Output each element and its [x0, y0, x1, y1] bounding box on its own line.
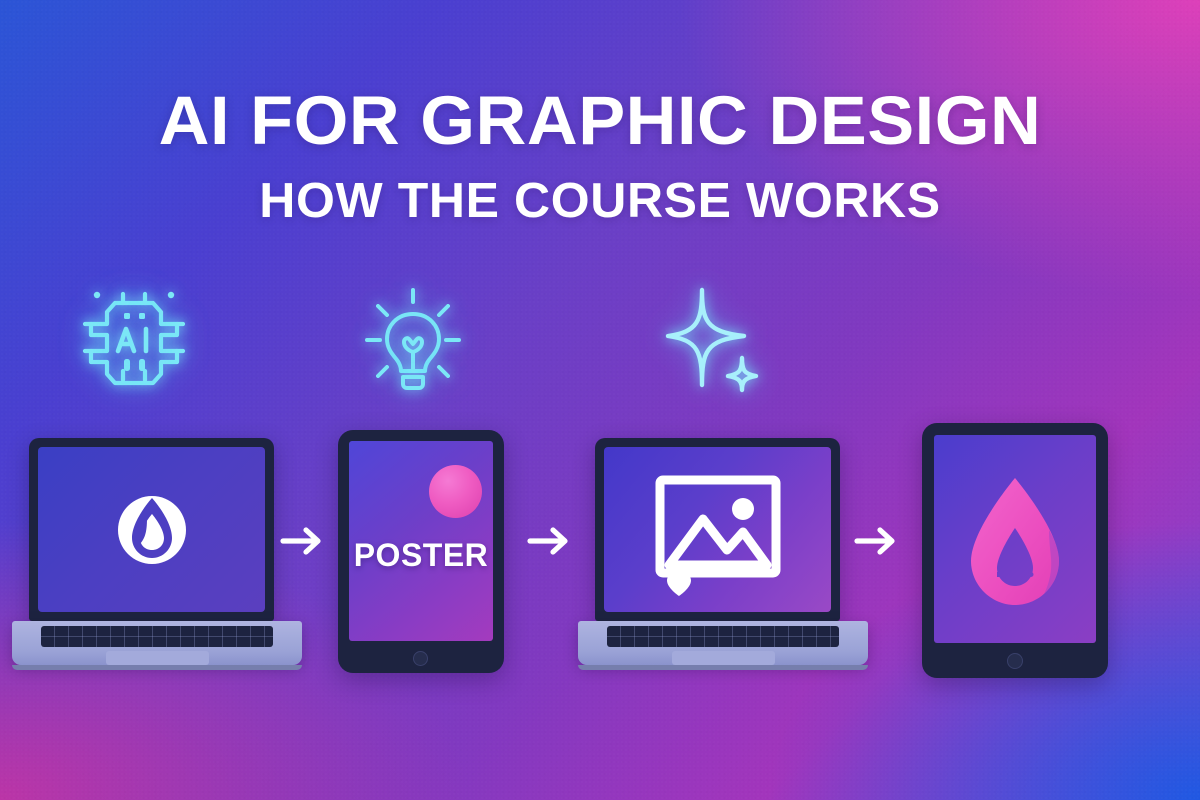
page-subtitle: HOW THE COURSE WORKS [0, 177, 1200, 226]
laptop-trackpad [672, 651, 775, 665]
image-placeholder-icon [604, 447, 831, 612]
step-4-tablet [922, 423, 1108, 678]
laptop-screen [38, 447, 265, 612]
flame-logo-pink [934, 435, 1096, 643]
ai-chip-icon [82, 281, 186, 393]
laptop-screen [604, 447, 831, 612]
sparkle-icon [664, 286, 768, 392]
tablet-home-button[interactable] [413, 651, 428, 666]
lightbulb-icon [363, 288, 463, 394]
poster-accent-circle [429, 465, 482, 518]
poster-canvas: AI FOR GRAPHIC DESIGN HOW THE COURSE WOR… [0, 0, 1200, 800]
step-1-laptop [12, 438, 302, 670]
step-3-laptop [578, 438, 868, 670]
heart-icon [666, 573, 692, 602]
tablet-screen: POSTER [349, 441, 493, 641]
tablet-home-button[interactable] [1007, 653, 1023, 669]
tablet-screen [934, 435, 1096, 643]
step-2-tablet: POSTER [338, 430, 504, 673]
laptop-keyboard [41, 626, 273, 647]
laptop-keyboard [607, 626, 839, 647]
page-title: AI FOR GRAPHIC DESIGN [0, 86, 1200, 155]
arrow-2 [527, 524, 571, 558]
laptop-foot [578, 665, 868, 670]
arrow-3 [854, 524, 898, 558]
title-block: AI FOR GRAPHIC DESIGN HOW THE COURSE WOR… [0, 86, 1200, 226]
flame-logo-white [38, 447, 265, 612]
laptop-foot [12, 665, 302, 670]
poster-label: POSTER [349, 537, 493, 574]
laptop-trackpad [106, 651, 209, 665]
arrow-1 [280, 524, 324, 558]
